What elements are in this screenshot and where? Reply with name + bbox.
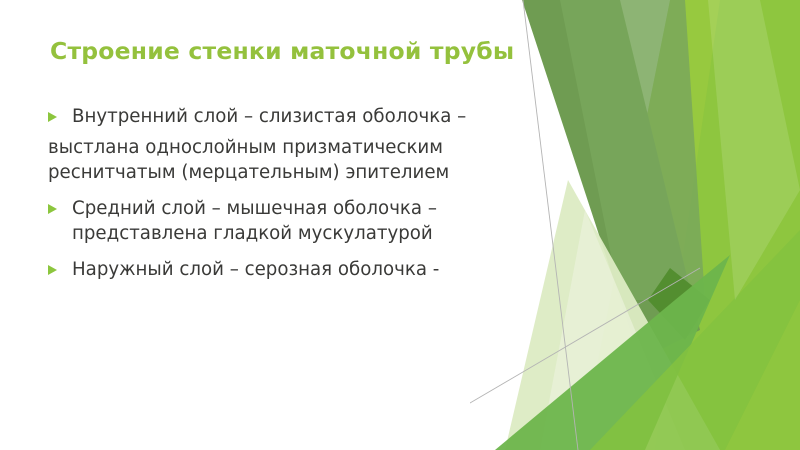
bullet-text: Наружный слой – серозная оболочка - [72,259,439,280]
bullet-continuation-line: реснитчатым (мерцательным) эпителием [44,160,514,185]
triangle-right-icon [48,265,57,275]
shape-very-pale-triangle [540,210,685,450]
shape-mid-green-band [495,255,730,450]
facet-decoration-svg [470,0,800,450]
spacer [44,187,514,196]
spacer [44,248,514,257]
shape-pale-green-triangle [505,180,720,450]
slide-canvas: Строение стенки маточной трубы Внутренни… [0,0,800,450]
triangle-right-icon [48,112,57,122]
bullet-item: Внутренний слой – слизистая оболочка – [44,104,514,129]
bullet-item: Наружный слой – серозная оболочка - [44,257,514,282]
shape-dark-sage [522,0,700,360]
shape-sage-overlay [560,0,705,300]
shape-bright-green-wedge [655,0,800,450]
shape-yellow-green-base [580,0,800,450]
page-title: Строение стенки маточной трубы [50,38,520,65]
shape-light-overlay-right [708,0,800,300]
bullet-text: Внутренний слой – слизистая оболочка – [72,106,466,127]
content-body: Внутренний слой – слизистая оболочка – в… [44,104,514,284]
triangle-right-icon [48,204,57,214]
shape-deep-green-wedge [648,268,710,340]
bullet-continuation-line: выстлана однослойным призматическим [44,135,514,160]
bullet-item: Средний слой – мышечная оболочка – [44,196,514,221]
thin-diagonal-line-b [470,268,700,450]
shape-mid-green-band-2 [590,230,800,450]
bullet-continuation-line: представлена гладкой мускулатурой [44,221,514,246]
facet-decoration-graphic [470,0,800,450]
thin-diagonal-line-a [523,0,578,450]
bullet-block: Наружный слой – серозная оболочка - [44,257,514,282]
bullet-text: Средний слой – мышечная оболочка – [72,198,437,219]
bullet-block: Внутренний слой – слизистая оболочка – в… [44,104,514,185]
bullet-block: Средний слой – мышечная оболочка – предс… [44,196,514,246]
